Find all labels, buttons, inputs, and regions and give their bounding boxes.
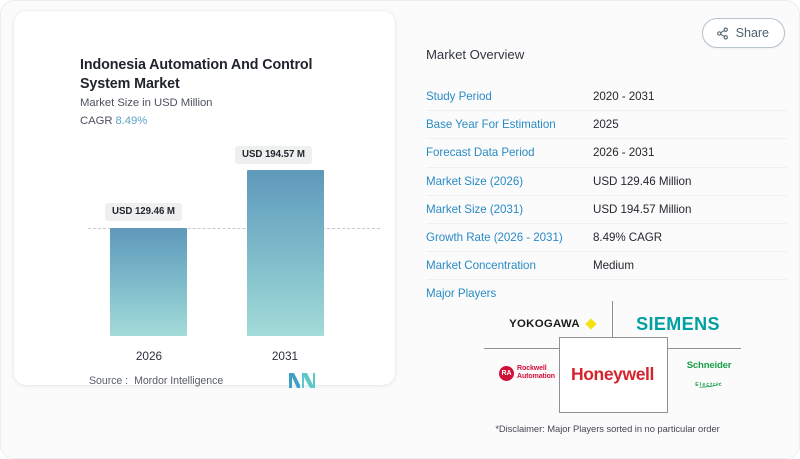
table-row: Growth Rate (2026 - 2031) 8.49% CAGR bbox=[426, 224, 787, 252]
x-axis-tick-2026: 2026 bbox=[104, 349, 194, 363]
table-row: Base Year For Estimation 2025 bbox=[426, 111, 787, 139]
player-logo-honeywell: Honeywell bbox=[559, 337, 666, 411]
overview-title: Market Overview bbox=[426, 47, 524, 62]
yokogawa-diamond-icon bbox=[585, 318, 596, 329]
bar-chart-plot: USD 129.46 M USD 194.57 M 2026 2031 bbox=[80, 141, 380, 341]
market-overview-panel: Market Overview Study Period 2020 - 2031… bbox=[426, 1, 789, 459]
player-logo-siemens: SIEMENS bbox=[620, 310, 736, 338]
row-key: Major Players bbox=[426, 287, 593, 300]
overview-table: Study Period 2020 - 2031 Base Year For E… bbox=[426, 83, 787, 308]
row-value: USD 129.46 Million bbox=[593, 175, 691, 188]
row-key: Growth Rate (2026 - 2031) bbox=[426, 231, 593, 244]
player-logo-schneider: Schneider Electric bbox=[672, 358, 746, 388]
market-summary-panel: Share Indonesia Automation And Control S… bbox=[0, 0, 800, 459]
bar-2026[interactable] bbox=[110, 228, 187, 336]
player-logo-rockwell: RA Rockwell Automation bbox=[492, 358, 562, 388]
player-logo-yokogawa: YOKOGAWA bbox=[498, 310, 606, 338]
table-row: Study Period 2020 - 2031 bbox=[426, 83, 787, 111]
row-value: 2025 bbox=[593, 118, 619, 131]
bar-value-label-2031: USD 194.57 M bbox=[235, 146, 312, 164]
schneider-wordmark: Schneider bbox=[687, 360, 732, 371]
chart-cagr-label: CAGR bbox=[80, 115, 112, 127]
bar-2031[interactable] bbox=[247, 170, 324, 336]
rockwell-line2: Automation bbox=[517, 373, 555, 380]
row-value: Medium bbox=[593, 259, 634, 272]
table-row: Market Size (2031) USD 194.57 Million bbox=[426, 196, 787, 224]
row-key: Market Size (2031) bbox=[426, 203, 593, 216]
honeywell-wordmark: Honeywell bbox=[571, 364, 654, 385]
row-value: 2026 - 2031 bbox=[593, 146, 654, 159]
yokogawa-wordmark: YOKOGAWA bbox=[509, 318, 580, 330]
chart-card: Indonesia Automation And Control System … bbox=[14, 11, 395, 385]
row-key: Base Year For Estimation bbox=[426, 118, 593, 131]
mordor-intelligence-logo bbox=[289, 372, 315, 388]
siemens-wordmark: SIEMENS bbox=[636, 314, 720, 335]
table-row: Forecast Data Period 2026 - 2031 bbox=[426, 139, 787, 167]
rockwell-wordmark: Rockwell Automation bbox=[517, 365, 555, 382]
players-disclaimer: *Disclaimer: Major Players sorted in no … bbox=[427, 423, 788, 434]
chart-cagr-value: 8.49% bbox=[115, 115, 147, 127]
chart-subtitle: Market Size in USD Million bbox=[80, 97, 212, 109]
rockwell-line1: Rockwell bbox=[517, 365, 547, 372]
chart-cagr: CAGR8.49% bbox=[80, 115, 147, 127]
rockwell-badge-icon: RA bbox=[499, 366, 514, 381]
row-key: Forecast Data Period bbox=[426, 146, 593, 159]
table-row: Market Concentration Medium bbox=[426, 252, 787, 280]
row-key: Market Concentration bbox=[426, 259, 593, 272]
source-name: Mordor Intelligence bbox=[134, 375, 223, 387]
bar-value-label-2026: USD 129.46 M bbox=[105, 203, 182, 221]
chart-title: Indonesia Automation And Control System … bbox=[80, 56, 340, 94]
row-value: 2020 - 2031 bbox=[593, 90, 654, 103]
row-key: Market Size (2026) bbox=[426, 175, 593, 188]
major-players-grid: YOKOGAWA SIEMENS Honeywell RA Rockwell A… bbox=[484, 301, 741, 401]
table-row: Market Size (2026) USD 129.46 Million bbox=[426, 168, 787, 196]
row-value: USD 194.57 Million bbox=[593, 203, 691, 216]
row-value: 8.49% CAGR bbox=[593, 231, 662, 244]
schneider-subwordmark: Electric bbox=[695, 382, 723, 388]
x-axis-tick-2031: 2031 bbox=[240, 349, 330, 363]
row-key: Study Period bbox=[426, 90, 593, 103]
source-label: Source : bbox=[89, 375, 128, 387]
